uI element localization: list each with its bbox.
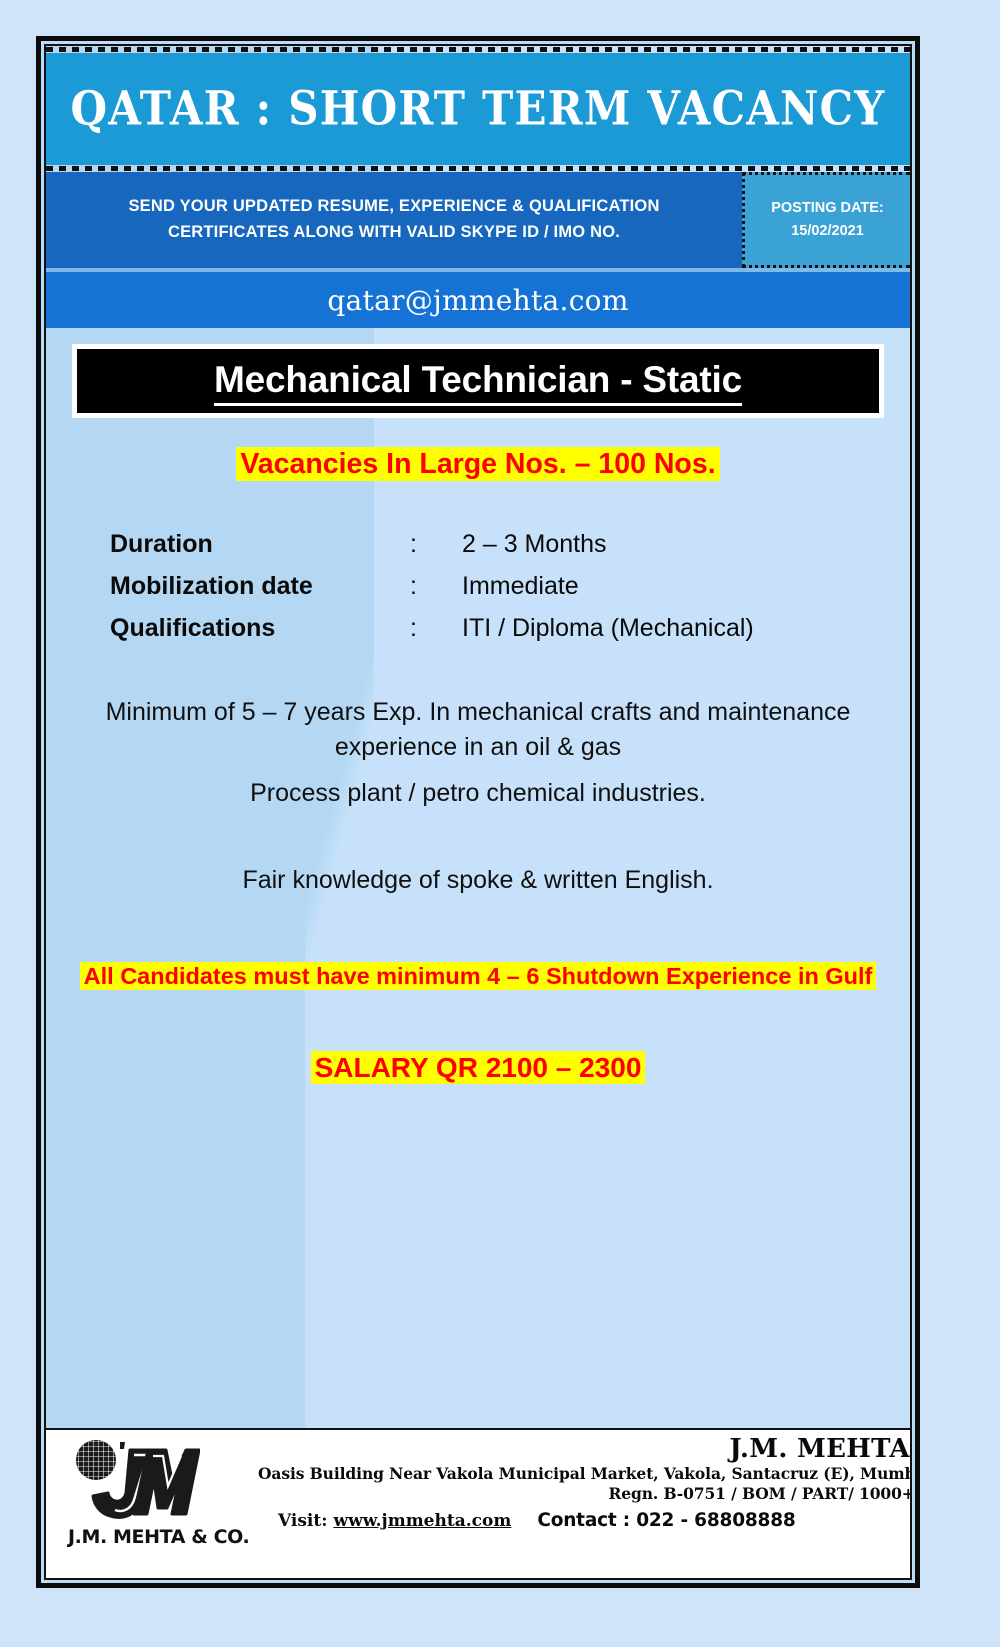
job-advert-poster: QATAR : SHORT TERM VACANCY SEND YOUR UPD…	[36, 36, 920, 1588]
footer: J.M. MEHTA & CO. J.M. MEHTA & CO. Oasis …	[46, 1428, 910, 1578]
footer-registration: Regn. B-0751 / BOM / PART/ 1000+/ 5 /643…	[258, 1484, 912, 1504]
detail-value: ITI / Diploma (Mechanical)	[462, 614, 754, 643]
shutdown-requirement: All Candidates must have minimum 4 – 6 S…	[80, 962, 877, 990]
detail-label: Qualifications	[110, 614, 410, 643]
footer-company-name-small: J.M. MEHTA & CO.	[68, 1526, 258, 1548]
poster-content: QATAR : SHORT TERM VACANCY SEND YOUR UPD…	[46, 46, 910, 1087]
poster-inner-frame: QATAR : SHORT TERM VACANCY SEND YOUR UPD…	[44, 44, 912, 1580]
footer-contact-number: Contact : 022 - 68808888	[537, 1510, 795, 1531]
footer-website-link[interactable]: Visit: www.jmmehta.com	[278, 1511, 511, 1531]
instruction-line-2: CERTIFICATES ALONG WITH VALID SKYPE ID /…	[168, 220, 620, 246]
detail-row-mobilization-date: Mobilization date : Immediate	[110, 572, 910, 601]
job-title-bar: Mechanical Technician - Static	[77, 349, 879, 413]
experience-requirement: Minimum of 5 – 7 years Exp. In mechanica…	[46, 695, 910, 766]
footer-company-name: J.M. MEHTA & CO.	[258, 1434, 912, 1464]
detail-colon: :	[410, 572, 462, 601]
detail-row-qualifications: Qualifications : ITI / Diploma (Mechanic…	[110, 614, 910, 643]
jm-globe-logo-icon	[68, 1436, 200, 1528]
footer-links-row: Visit: www.jmmehta.com Contact : 022 - 6…	[258, 1510, 912, 1531]
footer-details-block: J.M. MEHTA & CO. Oasis Building Near Vak…	[258, 1430, 912, 1578]
footer-logo-block: J.M. MEHTA & CO.	[46, 1430, 258, 1578]
instruction-line-1: SEND YOUR UPDATED RESUME, EXPERIENCE & Q…	[128, 194, 659, 220]
posting-date-value: 15/02/2021	[791, 220, 864, 243]
detail-label: Mobilization date	[110, 572, 410, 601]
detail-colon: :	[410, 614, 462, 643]
header-banner: QATAR : SHORT TERM VACANCY	[46, 53, 910, 165]
visit-label: Visit:	[278, 1511, 333, 1531]
posting-date-label: POSTING DATE:	[771, 197, 884, 220]
vacancies-row: Vacancies In Large Nos. – 100 Nos.	[46, 446, 910, 484]
detail-colon: :	[410, 530, 462, 559]
page-title: QATAR : SHORT TERM VACANCY	[46, 46, 910, 171]
instruction-strip: SEND YOUR UPDATED RESUME, EXPERIENCE & Q…	[46, 172, 910, 268]
resume-instructions: SEND YOUR UPDATED RESUME, EXPERIENCE & Q…	[46, 172, 742, 268]
plant-requirement: Process plant / petro chemical industrie…	[46, 776, 910, 812]
english-requirement: Fair knowledge of spoke & written Englis…	[46, 863, 910, 899]
footer-address: Oasis Building Near Vakola Municipal Mar…	[258, 1464, 912, 1484]
website-url[interactable]: www.jmmehta.com	[333, 1511, 511, 1531]
salary-row: SALARY QR 2100 – 2300	[46, 1050, 910, 1087]
detail-value: 2 – 3 Months	[462, 530, 607, 559]
job-title-text: Mechanical Technician - Static	[214, 359, 742, 406]
salary-amount: SALARY QR 2100 – 2300	[311, 1051, 646, 1084]
shutdown-note-row: All Candidates must have minimum 4 – 6 S…	[46, 961, 910, 992]
email-banner[interactable]: qatar@jmmehta.com	[46, 268, 910, 328]
detail-value: Immediate	[462, 572, 579, 601]
detail-label: Duration	[110, 530, 410, 559]
job-details-list: Duration : 2 – 3 Months Mobilization dat…	[46, 530, 910, 643]
vacancies-count: Vacancies In Large Nos. – 100 Nos.	[236, 447, 719, 481]
contact-email[interactable]: qatar@jmmehta.com	[327, 284, 628, 317]
job-title-frame: Mechanical Technician - Static	[72, 344, 884, 418]
detail-row-duration: Duration : 2 – 3 Months	[110, 530, 910, 559]
posting-date-box: POSTING DATE: 15/02/2021	[742, 172, 910, 268]
